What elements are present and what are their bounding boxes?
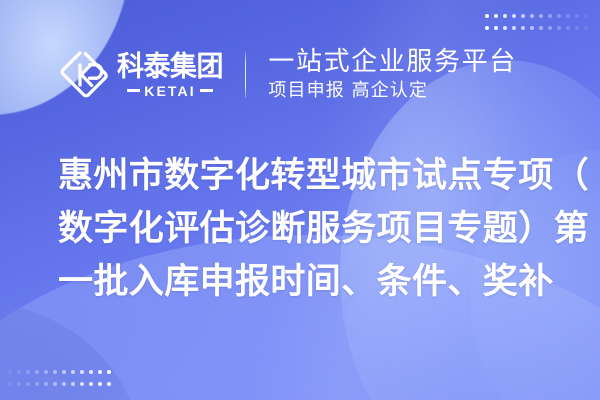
ketai-diamond-kp-logo-icon <box>58 49 110 101</box>
brand-name-latin: KETAI <box>144 84 195 98</box>
brand-name-latin-row: KETAI <box>127 84 212 98</box>
dot <box>503 26 507 30</box>
dot <box>521 26 525 30</box>
dot-row <box>8 382 111 386</box>
dot <box>80 370 84 374</box>
dot <box>17 370 21 374</box>
dot <box>17 382 21 386</box>
dot <box>71 370 75 374</box>
dot <box>98 382 102 386</box>
dot <box>548 26 552 30</box>
tagline-primary: 一站式企业服务平台 <box>268 48 516 77</box>
dot <box>80 382 84 386</box>
dot <box>575 26 579 30</box>
headline-line: 数字化评估诊断服务项目专题）第 <box>58 203 558 256</box>
dot <box>44 382 48 386</box>
dot <box>548 14 552 18</box>
dot-grid-bottom-left-icon <box>8 370 111 386</box>
dot <box>494 14 498 18</box>
dot <box>584 26 588 30</box>
headline-line: 一批入库申报时间、条件、奖补 <box>58 256 558 309</box>
wordmark-rule-right-icon <box>200 89 213 92</box>
dot <box>35 370 39 374</box>
dot <box>530 26 534 30</box>
dot <box>8 382 12 386</box>
dot <box>71 382 75 386</box>
dot-grid-top-right-icon <box>485 14 588 30</box>
dot <box>485 26 489 30</box>
dot <box>503 14 507 18</box>
dot <box>44 370 48 374</box>
dot <box>62 382 66 386</box>
dot <box>35 382 39 386</box>
dot <box>107 370 111 374</box>
dot <box>107 382 111 386</box>
dot <box>62 370 66 374</box>
tagline-block: 一站式企业服务平台 项目申报 高企认定 <box>268 48 516 103</box>
dot <box>539 14 543 18</box>
banner-headline: 惠州市数字化转型城市试点专项（ 数字化评估诊断服务项目专题）第 一批入库申报时间… <box>58 150 558 309</box>
dot <box>8 370 12 374</box>
dot <box>98 370 102 374</box>
dot <box>53 382 57 386</box>
dot <box>575 14 579 18</box>
dot <box>485 14 489 18</box>
dot-row <box>485 14 588 18</box>
dot <box>494 26 498 30</box>
dot <box>512 26 516 30</box>
promo-banner: 科泰集团 KETAI 一站式企业服务平台 项目申报 高企认定 惠州市数字化转型城… <box>0 0 600 400</box>
wordmark-rule-left-icon <box>127 89 140 92</box>
brand-name-cn: 科泰集团 <box>117 52 223 80</box>
tagline-secondary: 项目申报 高企认定 <box>268 80 516 103</box>
dot <box>530 14 534 18</box>
dot-row <box>485 26 588 30</box>
brand-wordmark: 科泰集团 KETAI <box>117 53 223 98</box>
brand-logo[interactable]: 科泰集团 KETAI <box>58 49 223 101</box>
dot <box>26 370 30 374</box>
dot-row <box>8 370 111 374</box>
dot <box>557 14 561 18</box>
headline-line: 惠州市数字化转型城市试点专项（ <box>58 150 558 203</box>
dot <box>539 26 543 30</box>
dot <box>512 14 516 18</box>
dot <box>89 370 93 374</box>
dot <box>521 14 525 18</box>
dot <box>53 370 57 374</box>
header-vertical-divider <box>245 52 246 98</box>
dot <box>557 26 561 30</box>
dot <box>89 382 93 386</box>
dot <box>566 14 570 18</box>
banner-header: 科泰集团 KETAI 一站式企业服务平台 项目申报 高企认定 <box>0 38 600 112</box>
dot <box>584 14 588 18</box>
dot <box>566 26 570 30</box>
dot <box>26 382 30 386</box>
